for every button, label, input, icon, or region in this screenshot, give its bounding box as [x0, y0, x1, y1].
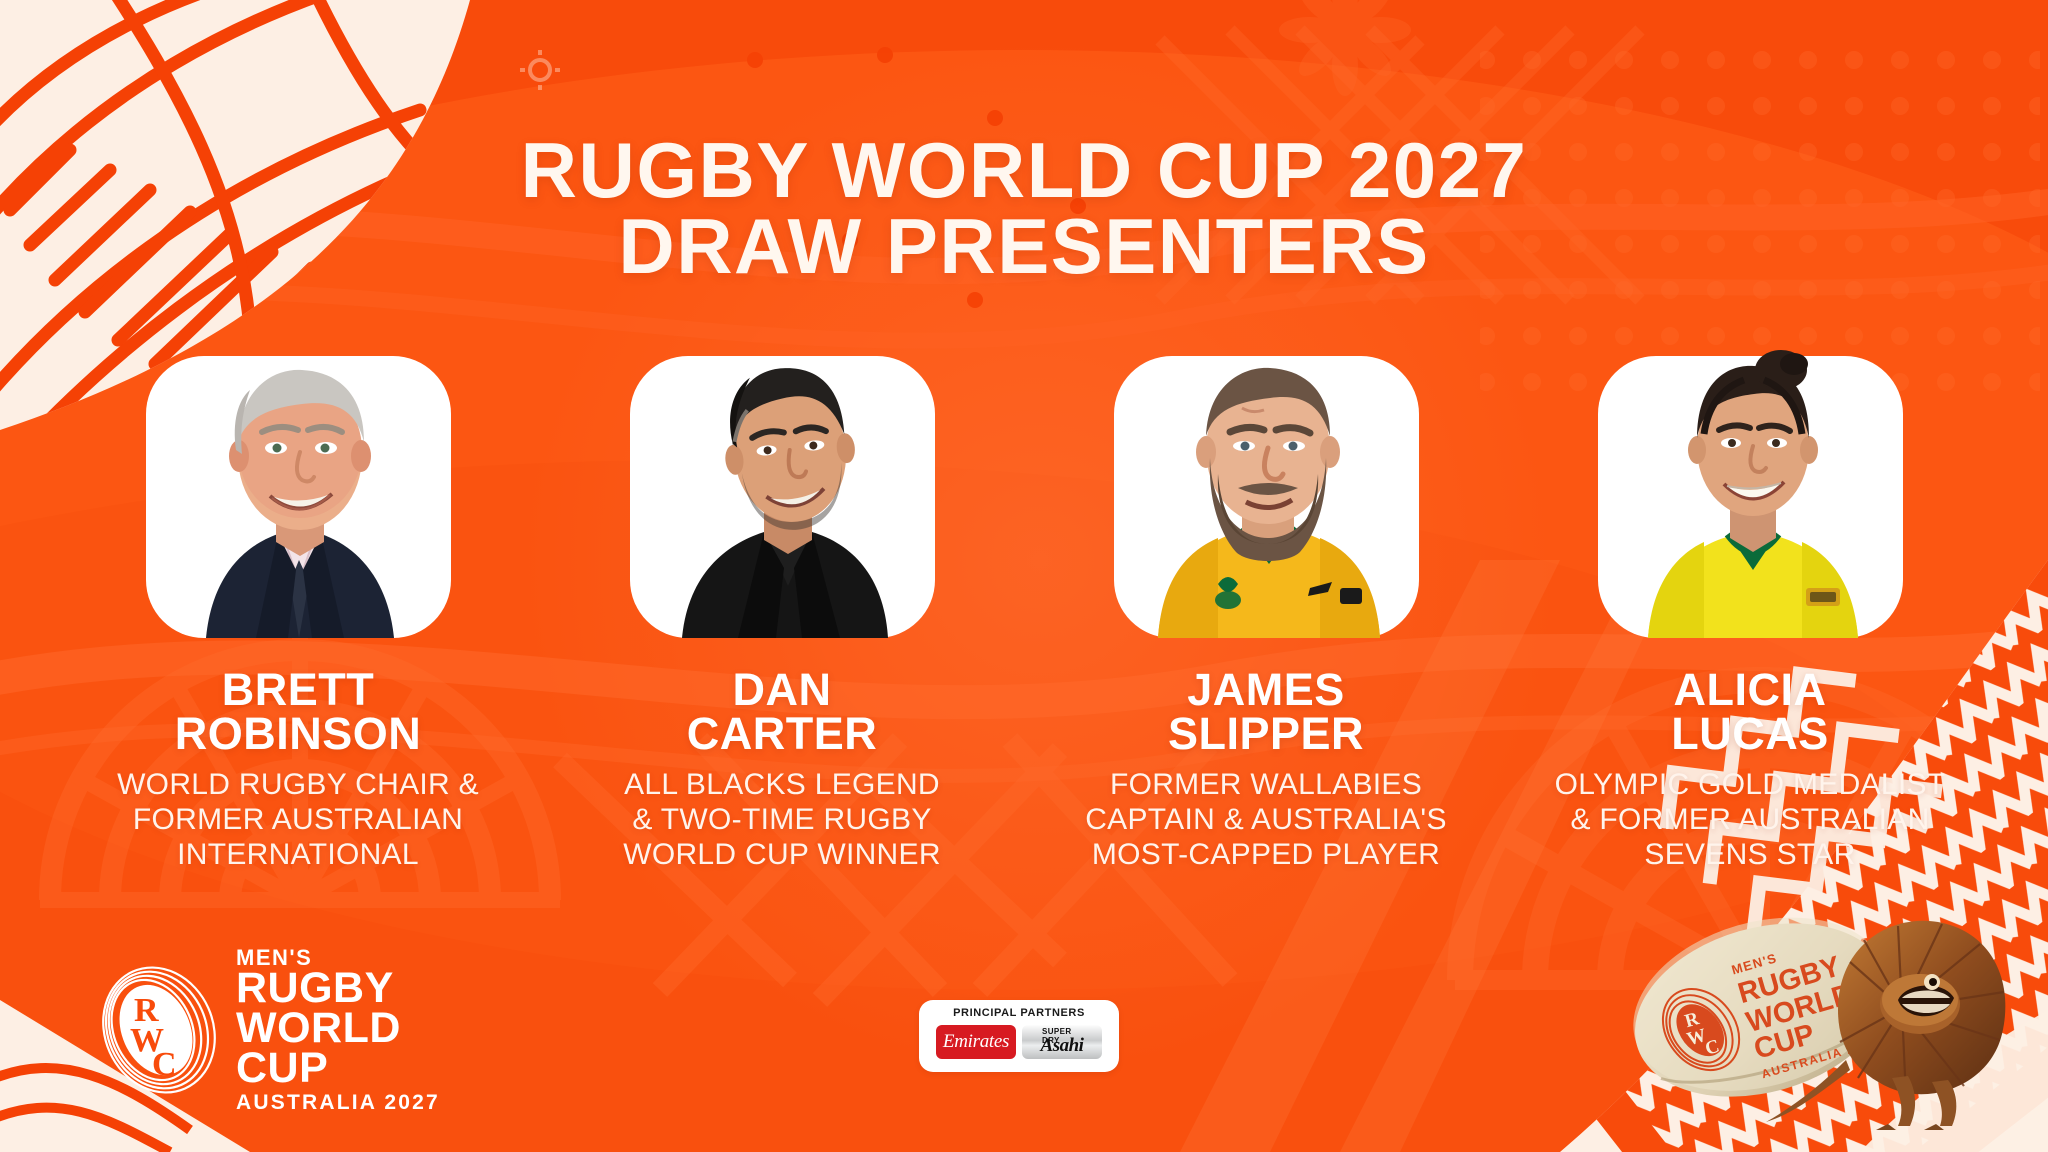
- role-line-1: FORMER WALLABIES: [1085, 768, 1447, 803]
- presenter-card-james-slipper: JAMES SLIPPER FORMER WALLABIES CAPTAIN &…: [1046, 338, 1486, 873]
- emirates-label: Emirates: [943, 1031, 1009, 1053]
- presenter-card-alicia-lucas: ALICIA LUCAS OLYMPIC GOLD MEDALIST & FOR…: [1530, 338, 1970, 873]
- svg-text:C: C: [152, 1046, 177, 1083]
- presenter-name-james-slipper: JAMES SLIPPER: [1168, 668, 1364, 756]
- name-line-2: SLIPPER: [1168, 712, 1364, 756]
- name-line-1: DAN: [687, 668, 878, 712]
- partners-heading: PRINCIPAL PARTNERS: [953, 1007, 1085, 1019]
- logo-word-rugby: RUGBY: [236, 968, 440, 1008]
- partner-logo-row: Emirates SUPER DRY Asahi: [936, 1025, 1102, 1059]
- role-line-3: SEVENS STAR: [1555, 838, 1946, 873]
- role-line-1: ALL BLACKS LEGEND: [623, 768, 941, 803]
- logo-word-cup: CUP: [236, 1048, 440, 1088]
- presenter-name-brett-robinson: BRETT ROBINSON: [175, 668, 422, 756]
- presenter-card-brett-robinson: BRETT ROBINSON WORLD RUGBY CHAIR & FORME…: [78, 338, 518, 873]
- name-line-1: JAMES: [1168, 668, 1364, 712]
- asahi-sub-label: SUPER DRY: [1042, 1027, 1082, 1045]
- presenters-row: BRETT ROBINSON WORLD RUGBY CHAIR & FORME…: [0, 338, 2048, 873]
- presenter-name-alicia-lucas: ALICIA LUCAS: [1671, 668, 1829, 756]
- presenter-role-dan-carter: ALL BLACKS LEGEND & TWO-TIME RUGBY WORLD…: [623, 768, 941, 872]
- role-line-1: OLYMPIC GOLD MEDALIST: [1555, 768, 1946, 803]
- poster-canvas: RUGBY WORLD CUP 2027 DRAW PRESENTERS: [0, 0, 2048, 1152]
- presenter-role-brett-robinson: WORLD RUGBY CHAIR & FORMER AUSTRALIAN IN…: [117, 768, 479, 872]
- name-line-2: ROBINSON: [175, 712, 422, 756]
- role-line-2: & TWO-TIME RUGBY: [623, 803, 941, 838]
- rugby-ball-and-mascot-graphic: R W C MEN'S RUGBY WORLD CUP AUSTRALIA 20…: [1602, 900, 2022, 1130]
- asahi-logo: SUPER DRY Asahi: [1022, 1025, 1102, 1059]
- title-line-1: RUGBY WORLD CUP 2027: [0, 132, 2048, 208]
- title-line-2: DRAW PRESENTERS: [0, 208, 2048, 284]
- role-line-1: WORLD RUGBY CHAIR &: [117, 768, 479, 803]
- portrait-image-dan-carter: [630, 338, 935, 638]
- emirates-logo: Emirates: [936, 1025, 1016, 1059]
- logo-host-year: AUSTRALIA 2027: [236, 1093, 440, 1113]
- presenter-role-james-slipper: FORMER WALLABIES CAPTAIN & AUSTRALIA'S M…: [1085, 768, 1447, 872]
- principal-partners-panel: PRINCIPAL PARTNERS Emirates SUPER DRY As…: [919, 1000, 1119, 1072]
- portrait-image-alicia-lucas: [1598, 338, 1903, 638]
- rwc-monogram-icon: R W C: [100, 959, 218, 1101]
- presenter-card-dan-carter: DAN CARTER ALL BLACKS LEGEND & TWO-TIME …: [562, 338, 1002, 873]
- role-line-3: WORLD CUP WINNER: [623, 838, 941, 873]
- presenter-role-alicia-lucas: OLYMPIC GOLD MEDALIST & FORMER AUSTRALIA…: [1555, 768, 1946, 872]
- name-line-1: BRETT: [175, 668, 422, 712]
- role-line-2: CAPTAIN & AUSTRALIA'S: [1085, 803, 1447, 838]
- role-line-2: FORMER AUSTRALIAN: [117, 803, 479, 838]
- role-line-2: & FORMER AUSTRALIAN: [1555, 803, 1946, 838]
- logo-word-world: WORLD: [236, 1008, 440, 1048]
- presenter-photo-brett-robinson: [146, 338, 451, 638]
- name-line-2: CARTER: [687, 712, 878, 756]
- name-line-1: ALICIA: [1671, 668, 1829, 712]
- role-line-3: INTERNATIONAL: [117, 838, 479, 873]
- tournament-logo-wordmark: MEN'S RUGBY WORLD CUP AUSTRALIA 2027: [236, 948, 440, 1113]
- presenter-photo-alicia-lucas: [1598, 338, 1903, 638]
- role-line-3: MOST-CAPPED PLAYER: [1085, 838, 1447, 873]
- portrait-image-james-slipper: [1114, 338, 1419, 638]
- presenter-name-dan-carter: DAN CARTER: [687, 668, 878, 756]
- presenter-photo-dan-carter: [630, 338, 935, 638]
- name-line-2: LUCAS: [1671, 712, 1829, 756]
- portrait-image-brett-robinson: [146, 338, 451, 638]
- presenter-photo-james-slipper: [1114, 338, 1419, 638]
- tournament-logo: R W C MEN'S RUGBY WORLD CUP AUSTRALIA 20…: [100, 948, 440, 1113]
- page-title: RUGBY WORLD CUP 2027 DRAW PRESENTERS: [0, 132, 2048, 285]
